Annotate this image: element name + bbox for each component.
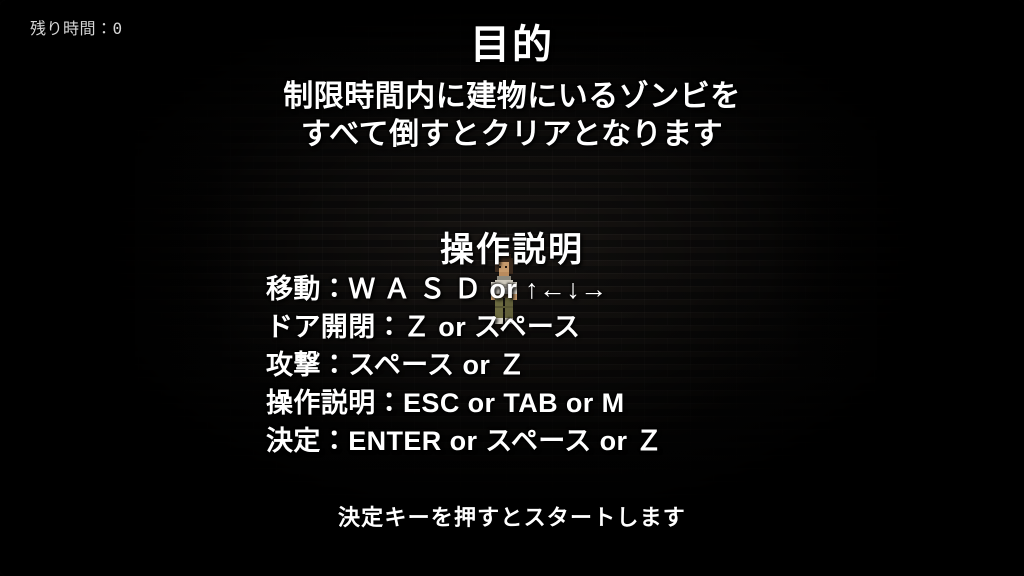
control-row-attack: 攻撃：スペース or Ｚ bbox=[266, 346, 663, 384]
controls-title: 操作説明 bbox=[0, 222, 1024, 271]
game-screen: 残り時間：0 目的 制限時間内に建物にいるゾンビを すべて倒すとクリアとなります… bbox=[0, 0, 1024, 576]
start-prompt[interactable]: 決定キーを押すとスタートします bbox=[0, 500, 1024, 532]
objective-line-2: すべて倒すとクリアとなります bbox=[0, 116, 1024, 154]
controls-list: 移動：Ｗ Ａ Ｓ Ｄ or ↑←↓→ ドア開閉：Ｚ or スペース 攻撃：スペー… bbox=[266, 270, 663, 460]
control-row-door: ドア開閉：Ｚ or スペース bbox=[266, 308, 663, 346]
objective-line-1: 制限時間内に建物にいるゾンビを bbox=[0, 78, 1024, 116]
control-row-confirm: 決定：ENTER or スペース or Ｚ bbox=[266, 422, 663, 460]
instructions-overlay: 目的 制限時間内に建物にいるゾンビを すべて倒すとクリアとなります 操作説明 移… bbox=[0, 0, 1024, 576]
objective-title: 目的 bbox=[0, 24, 1024, 66]
control-row-move: 移動：Ｗ Ａ Ｓ Ｄ or ↑←↓→ bbox=[266, 270, 663, 308]
objective-description: 制限時間内に建物にいるゾンビを すべて倒すとクリアとなります bbox=[0, 78, 1024, 155]
control-row-help: 操作説明：ESC or TAB or M bbox=[266, 384, 663, 422]
